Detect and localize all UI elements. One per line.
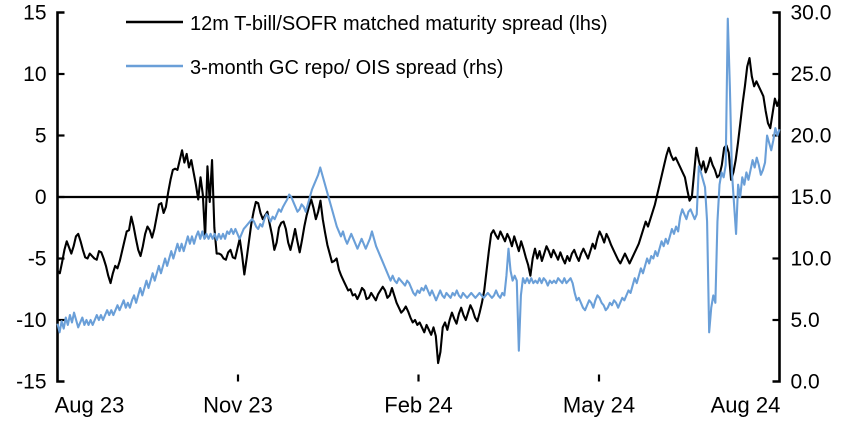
x-axis-tick-label: Aug 23 xyxy=(55,393,125,418)
x-axis-tick-labels: Aug 23Nov 23Feb 24May 24Aug 24 xyxy=(55,393,781,418)
right-axis-tick-labels: 30.025.020.015.010.05.00.0 xyxy=(791,2,832,394)
series-line-1 xyxy=(58,58,780,363)
legend-label-series-1: 12m T-bill/SOFR matched maturity spread … xyxy=(190,13,608,35)
left-axis-tick-label: -15 xyxy=(16,371,46,394)
right-axis-tick-label: 20.0 xyxy=(791,125,832,148)
left-axis-tick-label: 15 xyxy=(23,2,46,25)
x-axis-ticks xyxy=(238,375,599,382)
right-axis-tick-label: 15.0 xyxy=(791,186,832,209)
left-axis-tick-label: 5 xyxy=(35,125,47,148)
left-axis-tick-label: 10 xyxy=(23,63,46,86)
right-axis-tick-label: 30.0 xyxy=(791,2,832,25)
chart-legend: 12m T-bill/SOFR matched maturity spread … xyxy=(126,13,608,79)
x-axis-tick-label: Nov 23 xyxy=(203,393,273,418)
right-axis-tick-label: 10.0 xyxy=(791,248,832,271)
left-axis-tick-labels: 151050-5-10-15 xyxy=(16,2,46,394)
x-axis-tick-label: Aug 24 xyxy=(711,393,781,418)
left-axis-tick-label: -10 xyxy=(16,309,46,332)
line-chart: 151050-5-10-15 30.025.020.015.010.05.00.… xyxy=(0,0,852,432)
x-axis-tick-label: Feb 24 xyxy=(384,393,453,418)
right-axis-tick-label: 5.0 xyxy=(791,309,820,332)
legend-label-series-2: 3-month GC repo/ OIS spread (rhs) xyxy=(190,57,503,79)
right-axis-tick-label: 25.0 xyxy=(791,63,832,86)
right-axis-tick-label: 0.0 xyxy=(791,371,820,394)
chart-container: 151050-5-10-15 30.025.020.015.010.05.00.… xyxy=(0,0,852,432)
x-axis-tick-label: May 24 xyxy=(563,393,635,418)
left-axis-tick-label: 0 xyxy=(35,186,47,209)
left-axis-tick-label: -5 xyxy=(28,248,47,271)
